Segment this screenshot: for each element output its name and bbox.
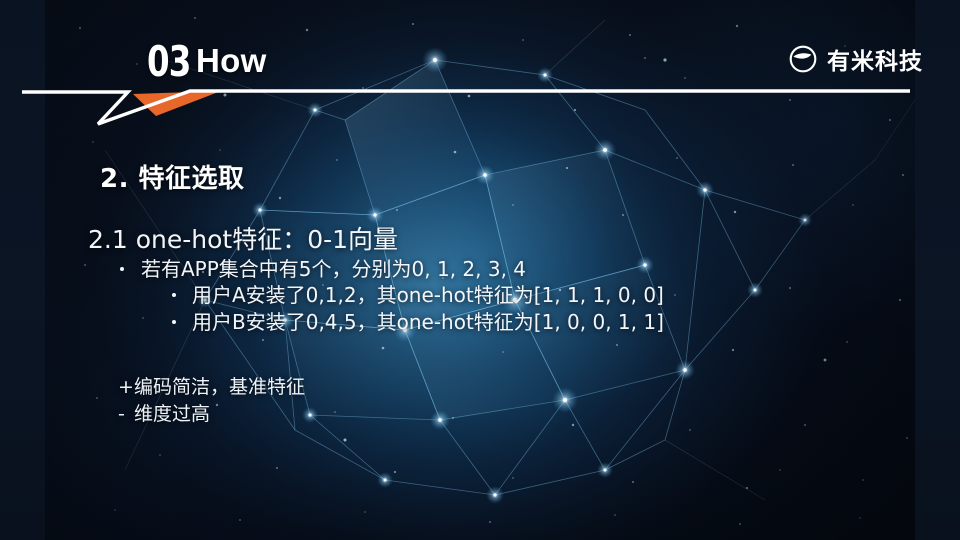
plus-sign: + (118, 374, 134, 401)
bullet-list: 若有APP集合中有5个，分别为0, 1, 2, 3, 4 用户A安装了0,1,2… (120, 256, 820, 336)
list-item-label: 若有APP集合中有5个，分别为0, 1, 2, 3, 4 (141, 256, 526, 282)
slide: 03 How 有米科技 2. 特征选取 2.1 one-hot特征：0-1向量 … (0, 0, 960, 540)
con-item: -维度过高 (118, 401, 305, 428)
list-item-label: 用户B安装了0,4,5，其one-hot特征为[1, 0, 0, 1, 1] (192, 309, 664, 336)
pro-item: +编码简洁，基准特征 (118, 374, 305, 401)
list-item: 若有APP集合中有5个，分别为0, 1, 2, 3, 4 (120, 256, 820, 282)
list-item-label: 用户A安装了0,1,2，其one-hot特征为[1, 1, 1, 0, 0] (192, 282, 664, 309)
page-title: How (196, 42, 267, 80)
bullet-dot-icon (120, 267, 124, 271)
minus-sign: - (118, 401, 134, 428)
brand-logo: 有米科技 (788, 42, 923, 76)
pro-item-label: 编码简洁，基准特征 (134, 376, 305, 398)
con-item-label: 维度过高 (134, 403, 210, 425)
pros-cons-list: +编码简洁，基准特征 -维度过高 (118, 374, 305, 428)
brand-logo-text: 有米科技 (827, 42, 923, 76)
circle-swoosh-icon (788, 44, 818, 74)
section-heading: 2. 特征选取 (100, 158, 245, 195)
sub-heading: 2.1 one-hot特征：0-1向量 (88, 220, 398, 256)
bullet-dot-icon (172, 293, 176, 297)
header-divider (0, 78, 960, 126)
list-item: 用户B安装了0,4,5，其one-hot特征为[1, 0, 0, 1, 1] (172, 309, 820, 336)
bullet-dot-icon (172, 320, 176, 324)
list-item: 用户A安装了0,1,2，其one-hot特征为[1, 1, 1, 0, 0] (172, 282, 820, 309)
